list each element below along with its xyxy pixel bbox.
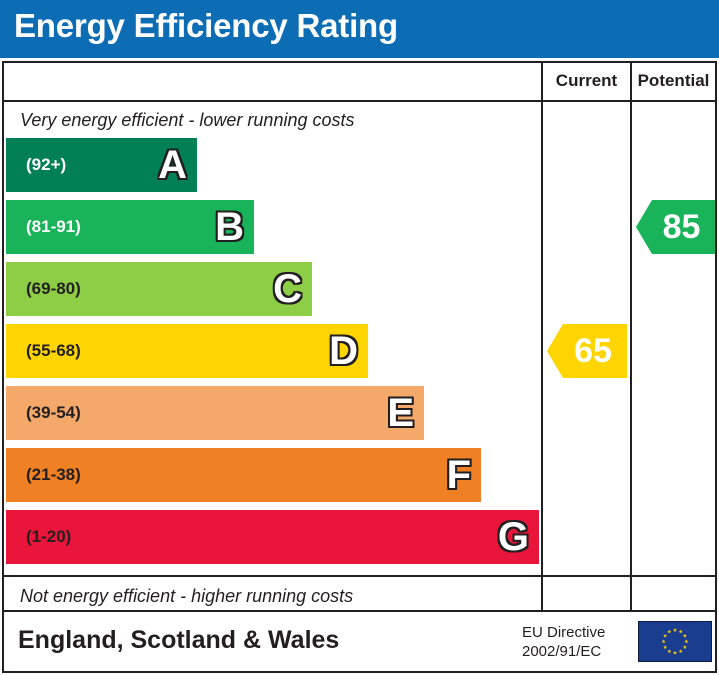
caption-top: Very energy efficient - lower running co… [20,110,355,131]
footer-divider [4,575,715,577]
band-range-f: (21-38) [26,465,81,485]
caption-bottom: Not energy efficient - higher running co… [20,586,353,607]
column-header-current: Current [543,71,630,91]
band-letter-e: E [387,393,414,433]
band-b: (81-91)B [6,200,254,254]
band-range-d: (55-68) [26,341,81,361]
band-g: (1-20)G [6,510,539,564]
eu-flag-icon [638,621,712,662]
eu-directive-label: EU Directive 2002/91/EC [522,623,605,661]
band-d: (55-68)D [6,324,368,378]
current-rating-arrow: 65 [547,324,627,378]
eu-directive-line-1: EU Directive [522,623,605,642]
band-f: (21-38)F [6,448,481,502]
column-header-potential: Potential [632,71,715,91]
current-rating-value: 65 [562,334,612,368]
potential-column-divider [630,63,632,610]
eu-directive-line-2: 2002/91/EC [522,642,605,661]
band-range-g: (1-20) [26,527,71,547]
band-range-a: (92+) [26,155,66,175]
potential-rating-arrow: 85 [636,200,715,254]
page-title: Energy Efficiency Rating [14,7,398,45]
band-letter-c: C [273,269,302,309]
current-column-divider [541,63,543,610]
header-banner: Energy Efficiency Rating [0,0,719,58]
band-range-e: (39-54) [26,403,81,423]
band-e: (39-54)E [6,386,424,440]
band-letter-f: F [447,455,471,495]
band-letter-a: A [158,145,187,185]
band-letter-b: B [215,207,244,247]
energy-efficiency-certificate: Energy Efficiency Rating Current Potenti… [0,0,719,675]
band-a: (92+)A [6,138,197,192]
band-letter-g: G [498,517,529,557]
band-c: (69-80)C [6,262,312,316]
rating-chart: Current Potential Very energy efficient … [2,61,717,612]
band-range-b: (81-91) [26,217,81,237]
band-range-c: (69-80) [26,279,81,299]
region-label: England, Scotland & Wales [18,626,339,655]
potential-rating-value: 85 [651,210,701,244]
band-letter-d: D [329,331,358,371]
band-list: (92+)A(81-91)B(69-80)C(55-68)D(39-54)E(2… [6,138,539,573]
certificate-footer: England, Scotland & Wales EU Directive 2… [2,612,717,673]
header-divider [4,100,715,102]
